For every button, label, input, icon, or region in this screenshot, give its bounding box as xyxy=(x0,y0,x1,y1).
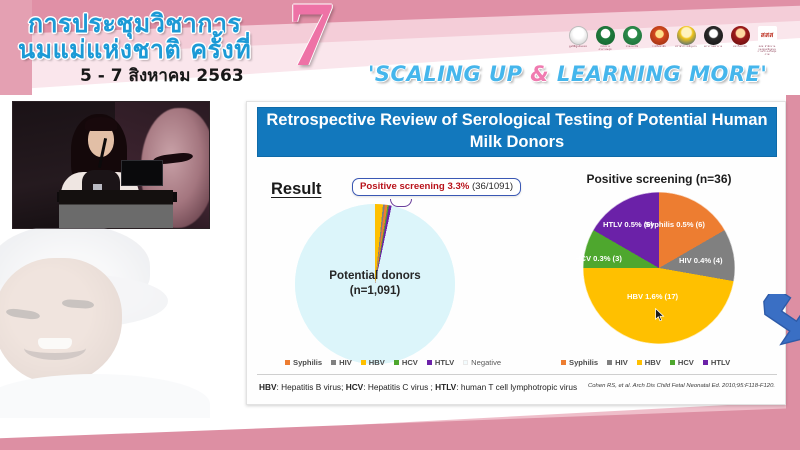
pie-label-syphilis: Syphilis 0.5% (6) xyxy=(645,220,705,230)
positive-screening-pie-chart: Positive screening (n=36) Syphilis 0.5% … xyxy=(537,172,781,388)
legend-label-hbv: HBV xyxy=(645,358,661,367)
legend-swatch-hbv xyxy=(361,360,366,365)
logo-caption: ตราพระราชลัญจกร xyxy=(675,46,697,49)
legend-label-syphilis: Syphilis xyxy=(293,358,322,367)
sponsor-logo-row: มูลนิธิศูนย์นมแม่ กระทรวงสาธารณสุข กรมอน… xyxy=(567,26,778,52)
legend-item-htlv[interactable]: HTLV xyxy=(703,358,730,367)
baby-watermark-image xyxy=(0,228,218,418)
legend-positive-screening: Syphilis HIV HBV HCV HTLV xyxy=(561,358,730,367)
legend-swatch-negative xyxy=(463,360,468,365)
pie-label-hcv: HCV 0.3% (3) xyxy=(575,254,622,264)
footnote-hcv-key: HCV xyxy=(346,382,364,392)
pie-label-htlv-text: HTLV 0.5% (6) xyxy=(603,220,653,229)
logo-caption: กระทรวงสาธารณสุข xyxy=(594,46,616,51)
logo-nursing-council: สภาการพยาบาล xyxy=(702,26,724,52)
logo-royal-emblem: ตราพระราชลัญจกร xyxy=(675,26,697,52)
legend-potential-donors: Syphilis HIV HBV HCV HTLV Negative xyxy=(285,358,501,367)
callout-label: Positive screening 3.3% xyxy=(360,181,469,192)
tagline-ampersand: & xyxy=(530,62,549,86)
health-dept-seal-icon xyxy=(623,26,642,45)
legend-item-hcv[interactable]: HCV xyxy=(670,358,694,367)
logo-ministry-of-public-health: กระทรวงสาธารณสุข xyxy=(594,26,616,52)
legend-swatch-hcv xyxy=(670,360,675,365)
positive-screening-callout: Positive screening 3.3% (36/1091) xyxy=(352,178,521,196)
legend-swatch-hbv xyxy=(637,360,642,365)
tagline-part-2: LEARNING MORE' xyxy=(549,62,767,86)
result-heading: Result xyxy=(271,180,321,199)
tagline-part-1: 'SCALING UP xyxy=(368,62,530,86)
legend-label-htlv: HTLV xyxy=(435,358,454,367)
conference-edition-number: 7 xyxy=(288,0,334,80)
footnote-htlv-value: : human T cell lymphotropic virus xyxy=(456,382,577,392)
mouse-cursor xyxy=(655,308,665,322)
logo-department-of-health: กรมอนามัย xyxy=(621,26,643,52)
podium xyxy=(59,190,173,228)
positive-screening-title: Positive screening (n=36) xyxy=(537,172,781,186)
legend-item-htlv[interactable]: HTLV xyxy=(427,358,454,367)
potential-donors-title: Potential donors xyxy=(283,268,467,283)
footnote-htlv-key: HTLV xyxy=(435,382,456,392)
screenshot-root: การประชุมวิชาการ นมแม่แห่งชาติ ครั้งที่ … xyxy=(0,0,800,450)
conference-date: 5 - 7 สิงหาคม 2563 xyxy=(80,62,244,89)
potential-donors-subtitle: (n=1,091) xyxy=(283,283,467,298)
logo-caption: กรมอนามัย xyxy=(626,46,639,49)
footnote-hcv-value: : Hepatitis C virus ; xyxy=(363,382,435,392)
watermark-child-face xyxy=(0,258,122,384)
legend-item-syphilis[interactable]: Syphilis xyxy=(561,358,598,367)
pie-label-syphilis-text: Syphilis 0.5% (6) xyxy=(645,220,705,229)
logo-royal-college: ราชวิทยาลัย xyxy=(648,26,670,52)
presentation-slide: Retrospective Review of Serological Test… xyxy=(246,101,786,405)
legend-swatch-hcv xyxy=(394,360,399,365)
pie-label-hbv: HBV 1.6% (17) xyxy=(627,292,678,302)
logo-caption: ราชวิทยาลัย xyxy=(652,46,666,49)
watermark-smile xyxy=(24,336,86,360)
pie-label-hiv-text: HIV 0.4% (4) xyxy=(679,256,722,265)
legend-swatch-hiv xyxy=(607,360,612,365)
legend-label-hiv: HIV xyxy=(339,358,352,367)
pie-label-hcv-text: HCV 0.3% (3) xyxy=(575,254,622,263)
legend-label-syphilis: Syphilis xyxy=(569,358,598,367)
legend-item-hbv[interactable]: HBV xyxy=(361,358,385,367)
logo-caption: สภาการพยาบาล xyxy=(704,46,722,49)
legend-label-hbv: HBV xyxy=(369,358,385,367)
logo-thai-breastfeeding-foundation: มูลนิธิศูนย์นมแม่ xyxy=(567,26,589,52)
logo-university-seal: มหาวิทยาลัย xyxy=(729,26,751,52)
legend-swatch-htlv xyxy=(427,360,432,365)
legend-item-hcv[interactable]: HCV xyxy=(394,358,418,367)
pie-label-hiv: HIV 0.4% (4) xyxy=(679,256,722,266)
pie-label-htlv: HTLV 0.5% (6) xyxy=(603,220,653,230)
legend-swatch-syphilis xyxy=(561,360,566,365)
legend-swatch-hiv xyxy=(331,360,336,365)
legend-item-negative[interactable]: Negative xyxy=(463,358,501,367)
legend-swatch-htlv xyxy=(703,360,708,365)
legend-item-hbv[interactable]: HBV xyxy=(637,358,661,367)
legend-item-syphilis[interactable]: Syphilis xyxy=(285,358,322,367)
presenter-hair-fringe xyxy=(85,117,117,131)
university-seal-icon xyxy=(731,26,750,45)
logo-thaihealth: สสส สสส. สำนักงานกองทุนสนับสนุนการสร้างเ… xyxy=(756,26,778,52)
source-citation: Cohen RS, et al. Arch Dis Child Fetal Ne… xyxy=(588,383,775,389)
conference-tagline: 'SCALING UP & LEARNING MORE' xyxy=(368,62,767,86)
legend-label-negative: Negative xyxy=(471,358,501,367)
royal-college-seal-icon xyxy=(650,26,669,45)
legend-label-hcv: HCV xyxy=(402,358,418,367)
pie-label-hbv-text: HBV 1.6% (17) xyxy=(627,292,678,301)
logo-caption: มูลนิธิศูนย์นมแม่ xyxy=(569,46,587,49)
legend-swatch-syphilis xyxy=(285,360,290,365)
legend-label-hcv: HCV xyxy=(678,358,694,367)
legend-label-hiv: HIV xyxy=(615,358,628,367)
thaihealth-wordmark-icon: สสส xyxy=(758,26,777,45)
slide-title: Retrospective Review of Serological Test… xyxy=(257,107,777,157)
legend-item-hiv[interactable]: HIV xyxy=(331,358,352,367)
footnote-divider xyxy=(257,374,777,375)
callout-fraction: (36/1091) xyxy=(472,181,513,192)
conference-header-banner: การประชุมวิชาการ นมแม่แห่งชาติ ครั้งที่ … xyxy=(0,0,800,95)
footnote-hbv-value: : Hepatitis B virus; xyxy=(277,382,346,392)
logo-caption: มหาวิทยาลัย xyxy=(733,46,747,49)
logo-caption: สสส. สำนักงานกองทุนสนับสนุนการสร้างเสริม… xyxy=(756,46,778,57)
watermark-shoulder xyxy=(0,374,210,418)
legend-item-hiv[interactable]: HIV xyxy=(607,358,628,367)
potential-donors-center-label: Potential donors (n=1,091) xyxy=(283,268,467,299)
nursing-council-seal-icon xyxy=(704,26,723,45)
legend-label-htlv: HTLV xyxy=(711,358,730,367)
ministry-seal-icon xyxy=(596,26,615,45)
laptop-on-podium xyxy=(121,160,163,186)
foundation-seal-icon xyxy=(569,26,588,45)
footnote-hbv-key: HBV xyxy=(259,382,277,392)
abbreviation-footnote: HBV: Hepatitis B virus; HCV: Hepatitis C… xyxy=(259,382,577,392)
presenter-video-feed[interactable] xyxy=(12,101,210,229)
royal-emblem-icon xyxy=(677,26,696,45)
